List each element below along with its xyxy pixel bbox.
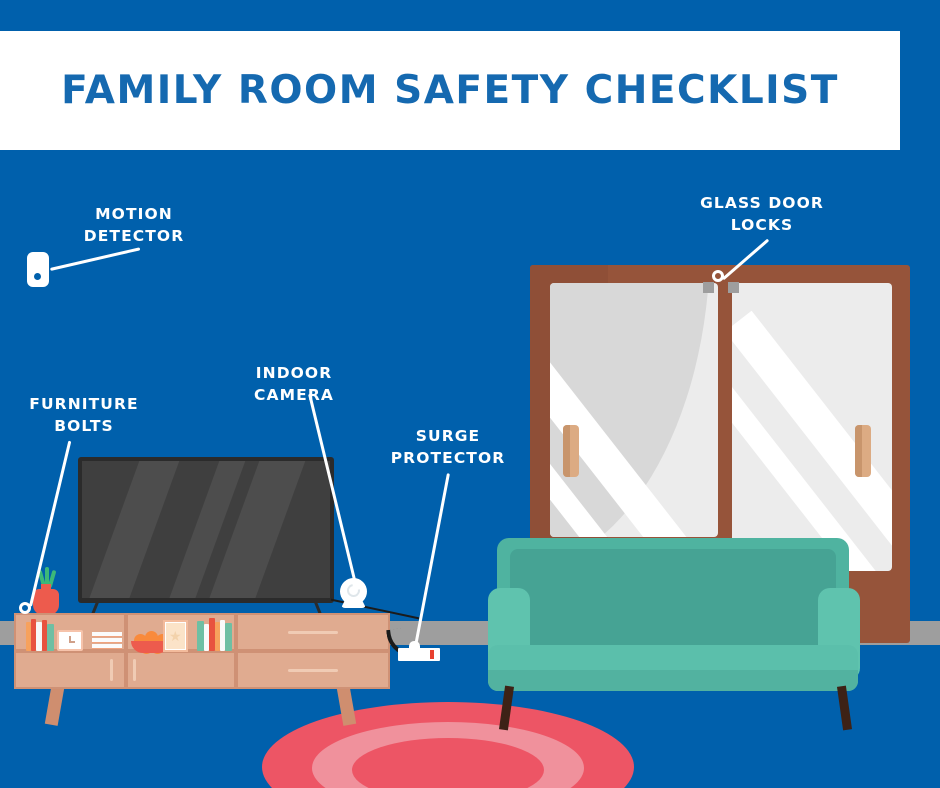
stacked-book: [92, 632, 122, 637]
callout-furniture-bolts-line2: Bolts: [10, 415, 158, 437]
surge-protector-led-icon: [430, 650, 434, 659]
leader-dot-furniture-bolts: [19, 602, 31, 614]
shelf-book: [47, 624, 54, 651]
leader-line-motion-detector: [50, 247, 140, 271]
console-drawer-handle-top[interactable]: [288, 631, 338, 634]
stacked-book: [92, 644, 122, 649]
console-leg-left: [45, 686, 64, 726]
callout-glass-door-locks-line2: Locks: [688, 214, 836, 236]
shelf-book: [225, 623, 232, 651]
infographic-canvas: ★ Motion Detector Glass Door Locks Furni…: [0, 0, 940, 788]
star-icon: ★: [169, 630, 182, 644]
tv-glare-stripe: [82, 461, 183, 598]
sofa-seat-shadow: [488, 670, 858, 691]
sofa-backrest-cushion: [510, 549, 836, 652]
stacked-book: [92, 638, 122, 643]
glass-pane-left: [550, 283, 718, 537]
callout-surge-protector-line1: Surge: [374, 425, 522, 447]
callout-indoor-camera-line2: Camera: [220, 384, 368, 406]
callout-glass-door-locks: Glass Door Locks: [688, 192, 836, 236]
door-lock-right[interactable]: [728, 282, 739, 293]
television-screen: [82, 461, 330, 598]
callout-indoor-camera-line1: Indoor: [220, 362, 368, 384]
callout-indoor-camera: Indoor Camera: [220, 362, 368, 406]
shelf-book: [197, 621, 204, 651]
callout-surge-protector: Surge Protector: [374, 425, 522, 469]
console-drawer-handle-center[interactable]: [133, 659, 136, 681]
console-drawer-bottom-center[interactable]: [126, 651, 236, 689]
door-handle-left-shade: [563, 425, 570, 477]
door-lock-left[interactable]: [703, 282, 714, 293]
page-title: Family Room Safety Checklist: [61, 68, 839, 113]
callout-furniture-bolts: Furniture Bolts: [10, 393, 158, 437]
callout-motion-detector-line1: Motion: [60, 203, 208, 225]
motion-detector-lens-icon: [34, 273, 41, 280]
console-drawer-handle-left[interactable]: [110, 659, 113, 681]
callout-motion-detector: Motion Detector: [60, 203, 208, 247]
title-banner: Family Room Safety Checklist: [0, 31, 900, 150]
callout-motion-detector-line2: Detector: [60, 225, 208, 247]
plant-vase: [33, 589, 59, 615]
clock-hand-hour: [69, 641, 75, 643]
callout-surge-protector-line2: Protector: [374, 447, 522, 469]
motion-detector-icon[interactable]: [27, 252, 49, 287]
door-handle-right-shade: [855, 425, 862, 477]
console-drawer-handle-bottom[interactable]: [288, 669, 338, 672]
callout-glass-door-locks-line1: Glass Door: [688, 192, 836, 214]
callout-furniture-bolts-line1: Furniture: [10, 393, 158, 415]
leader-dot-glass-door-locks: [712, 270, 724, 282]
sofa-leg-right: [837, 686, 852, 731]
